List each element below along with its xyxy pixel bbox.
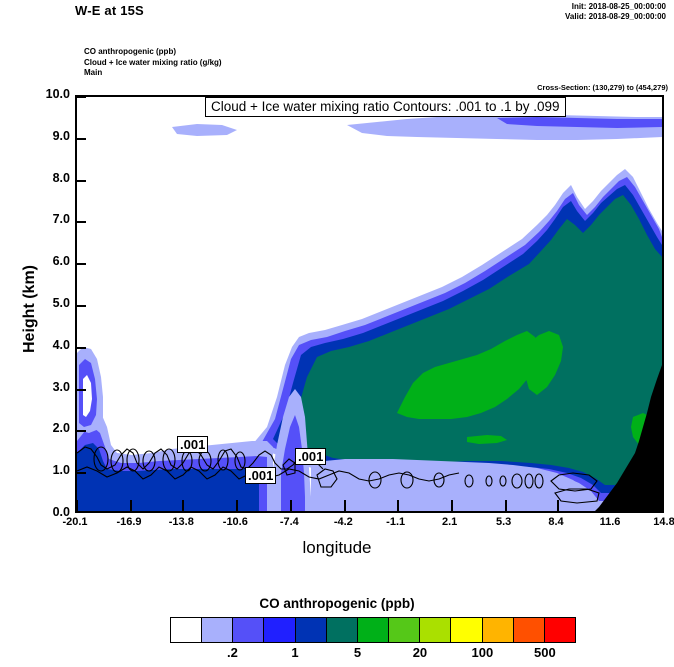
colorbar-tick-label: .2 (212, 645, 252, 660)
x-tick-label: -16.9 (106, 516, 152, 528)
x-tick-mark (130, 500, 132, 511)
x-tick-mark (182, 500, 184, 511)
colorbar-cell (327, 618, 358, 642)
y-tick-mark (77, 430, 86, 432)
colorbar-tick-label: 5 (337, 645, 377, 660)
colorbar-cell (420, 618, 451, 642)
colorbar-tick-label: 100 (462, 645, 502, 660)
contour-fill-canvas (77, 97, 662, 511)
contour-label-1: .001 (177, 436, 208, 453)
colorbar-cell (358, 618, 389, 642)
contour-title-box: Cloud + Ice water mixing ratio Contours:… (205, 97, 566, 117)
variable-line-contour: Cloud + Ice water mixing ratio (g/kg) (84, 58, 222, 69)
colorbar-tick-label: 20 (400, 645, 440, 660)
colorbar-cell (264, 618, 295, 642)
page-title: W-E at 15S (75, 3, 144, 18)
valid-time-label: Valid: 2018-08-29_00:00:00 (565, 12, 666, 21)
y-tick-mark (77, 263, 86, 265)
y-tick-mark (77, 221, 86, 223)
x-axis-labels: -20.1-16.9-13.8-10.6-7.4-4.2-1.12.15.38.… (0, 516, 674, 534)
y-tick-mark (77, 138, 86, 140)
colorbar-cell (514, 618, 545, 642)
colorbar-tick-label: 1 (275, 645, 315, 660)
y-tick-mark (77, 389, 86, 391)
y-tick-label: 10.0 (22, 87, 70, 101)
x-tick-mark (236, 500, 238, 511)
contour-label-3: .001 (295, 448, 326, 465)
x-tick-mark (344, 500, 346, 511)
cross-section-plot: .001 .001 .001 (75, 95, 664, 513)
x-tick-label: 11.6 (587, 516, 633, 528)
y-tick-label: 1.0 (22, 463, 70, 477)
x-tick-mark (611, 500, 613, 511)
colorbar-cell (545, 618, 575, 642)
y-tick-mark (77, 180, 86, 182)
y-tick-label: 3.0 (22, 380, 70, 394)
variable-annotation-block: CO anthropogenic (ppb) Cloud + Ice water… (84, 47, 222, 79)
x-tick-mark (451, 500, 453, 511)
x-tick-label: -4.2 (320, 516, 366, 528)
x-tick-label: -7.4 (266, 516, 312, 528)
colorbar-title: CO anthropogenic (ppb) (0, 596, 674, 611)
y-tick-label: 2.0 (22, 421, 70, 435)
y-axis-title: Height (km) (21, 249, 39, 369)
y-tick-mark (77, 347, 86, 349)
x-tick-mark (290, 500, 292, 511)
colorbar-cell (483, 618, 514, 642)
x-tick-mark (76, 500, 78, 511)
cross-section-label: Cross-Section: (130,279) to (454,279) (537, 83, 668, 92)
y-tick-label: 9.0 (22, 129, 70, 143)
colorbar-cell (233, 618, 264, 642)
colorbar-cell (296, 618, 327, 642)
x-tick-mark (397, 500, 399, 511)
x-axis-title: longitude (0, 538, 674, 558)
x-tick-label: 14.8 (641, 516, 674, 528)
variable-line-filled: CO anthropogenic (ppb) (84, 47, 222, 58)
y-tick-mark (77, 96, 86, 98)
x-tick-label: 5.3 (481, 516, 527, 528)
colorbar-cell (389, 618, 420, 642)
x-tick-mark (557, 500, 559, 511)
y-tick-mark (77, 472, 86, 474)
colorbar-tick-label: 500 (525, 645, 565, 660)
x-tick-label: -10.6 (212, 516, 258, 528)
x-tick-mark (505, 500, 507, 511)
x-tick-label: -1.1 (373, 516, 419, 528)
init-time-label: Init: 2018-08-25_00:00:00 (572, 2, 666, 11)
y-tick-label: 8.0 (22, 171, 70, 185)
variable-line-domain: Main (84, 68, 222, 79)
colorbar-cell (202, 618, 233, 642)
y-tick-label: 7.0 (22, 212, 70, 226)
contour-label-2: .001 (245, 467, 276, 484)
x-tick-label: -13.8 (158, 516, 204, 528)
x-tick-label: -20.1 (52, 516, 98, 528)
colorbar-cell (171, 618, 202, 642)
colorbar (170, 617, 576, 643)
y-tick-mark (77, 305, 86, 307)
colorbar-cell (451, 618, 482, 642)
x-tick-label: 8.4 (533, 516, 579, 528)
x-tick-label: 2.1 (427, 516, 473, 528)
colorbar-labels: .21520100500 (170, 645, 576, 663)
